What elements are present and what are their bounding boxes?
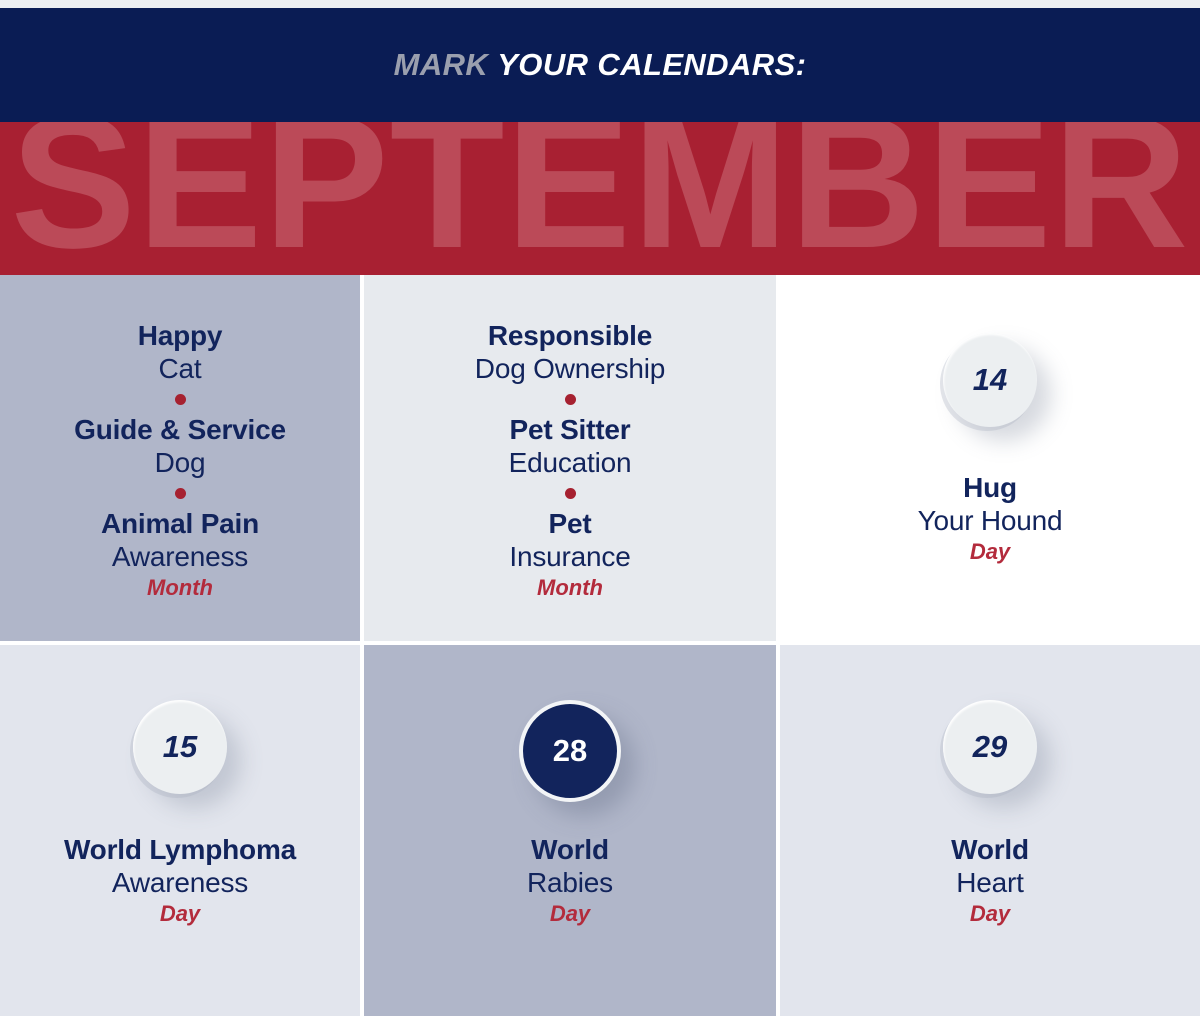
entry-bold: Guide & Service <box>14 413 346 446</box>
event-suffix: Day <box>14 899 346 929</box>
calendar-grid: Happy Cat Guide & Service Dog Animal Pai… <box>0 275 1200 1016</box>
list-item: Animal Pain Awareness Month <box>14 507 346 603</box>
entry-suffix: Month <box>378 573 762 603</box>
entry-bold: Pet Sitter <box>378 413 762 446</box>
cell-day-world-rabies[interactable]: 28 World Rabies Day <box>364 645 776 1016</box>
list-item: Happy Cat <box>14 319 346 385</box>
cell-months-pets[interactable]: Responsible Dog Ownership Pet Sitter Edu… <box>364 275 776 641</box>
event-bold: World <box>794 833 1186 866</box>
entry-regular: Education <box>378 446 762 479</box>
event-regular: Rabies <box>378 866 762 899</box>
day-badge-14[interactable]: 14 <box>943 333 1037 427</box>
cell-day-world-heart[interactable]: 29 World Heart Day <box>780 645 1200 1016</box>
day-number: 15 <box>163 729 197 765</box>
day-number: 28 <box>553 733 587 769</box>
cell-day-world-lymphoma[interactable]: 15 World Lymphoma Awareness Day <box>0 645 360 1016</box>
list-item: Pet Sitter Education <box>378 413 762 479</box>
entry-regular: Dog Ownership <box>378 352 762 385</box>
top-edge-strip <box>0 0 1200 8</box>
entry-regular: Dog <box>14 446 346 479</box>
entry-bold: Happy <box>14 319 346 352</box>
header-band: MARK YOUR CALENDARS: <box>0 8 1200 122</box>
day-number: 14 <box>973 362 1007 398</box>
entry-bold: Animal Pain <box>14 507 346 540</box>
event-regular: Awareness <box>14 866 346 899</box>
day-number: 29 <box>973 729 1007 765</box>
page-title-main: YOUR CALENDARS: <box>497 47 806 82</box>
entry-suffix: Month <box>14 573 346 603</box>
event-regular: Your Hound <box>794 504 1186 537</box>
list-item: Guide & Service Dog <box>14 413 346 479</box>
separator-dot-icon <box>175 488 186 499</box>
cell-day-hug-your-hound[interactable]: 14 Hug Your Hound Day <box>780 275 1200 641</box>
event-suffix: Day <box>794 899 1186 929</box>
event-bold: World <box>378 833 762 866</box>
day-badge-15[interactable]: 15 <box>133 700 227 794</box>
month-name-watermark: SEPTEMBER <box>0 122 1200 275</box>
event-regular: Heart <box>794 866 1186 899</box>
day-badge-29[interactable]: 29 <box>943 700 1037 794</box>
entry-regular: Awareness <box>14 540 346 573</box>
entry-bold: Pet <box>378 507 762 540</box>
event-bold: World Lymphoma <box>14 833 346 866</box>
list-item: Responsible Dog Ownership <box>378 319 762 385</box>
september-awareness-poster: MARK YOUR CALENDARS: SEPTEMBER Happy Cat… <box>0 0 1200 1016</box>
entry-regular: Insurance <box>378 540 762 573</box>
list-item: Pet Insurance Month <box>378 507 762 603</box>
separator-dot-icon <box>175 394 186 405</box>
page-title-accent: MARK <box>394 47 489 82</box>
month-banner: SEPTEMBER <box>0 122 1200 275</box>
day-badge-28[interactable]: 28 <box>519 700 621 802</box>
page-title: MARK YOUR CALENDARS: <box>394 47 807 83</box>
event-suffix: Day <box>794 537 1186 567</box>
event-bold: Hug <box>794 471 1186 504</box>
entry-regular: Cat <box>14 352 346 385</box>
cell-months-cats-dogs[interactable]: Happy Cat Guide & Service Dog Animal Pai… <box>0 275 360 641</box>
separator-dot-icon <box>565 394 576 405</box>
event-suffix: Day <box>378 899 762 929</box>
separator-dot-icon <box>565 488 576 499</box>
entry-bold: Responsible <box>378 319 762 352</box>
